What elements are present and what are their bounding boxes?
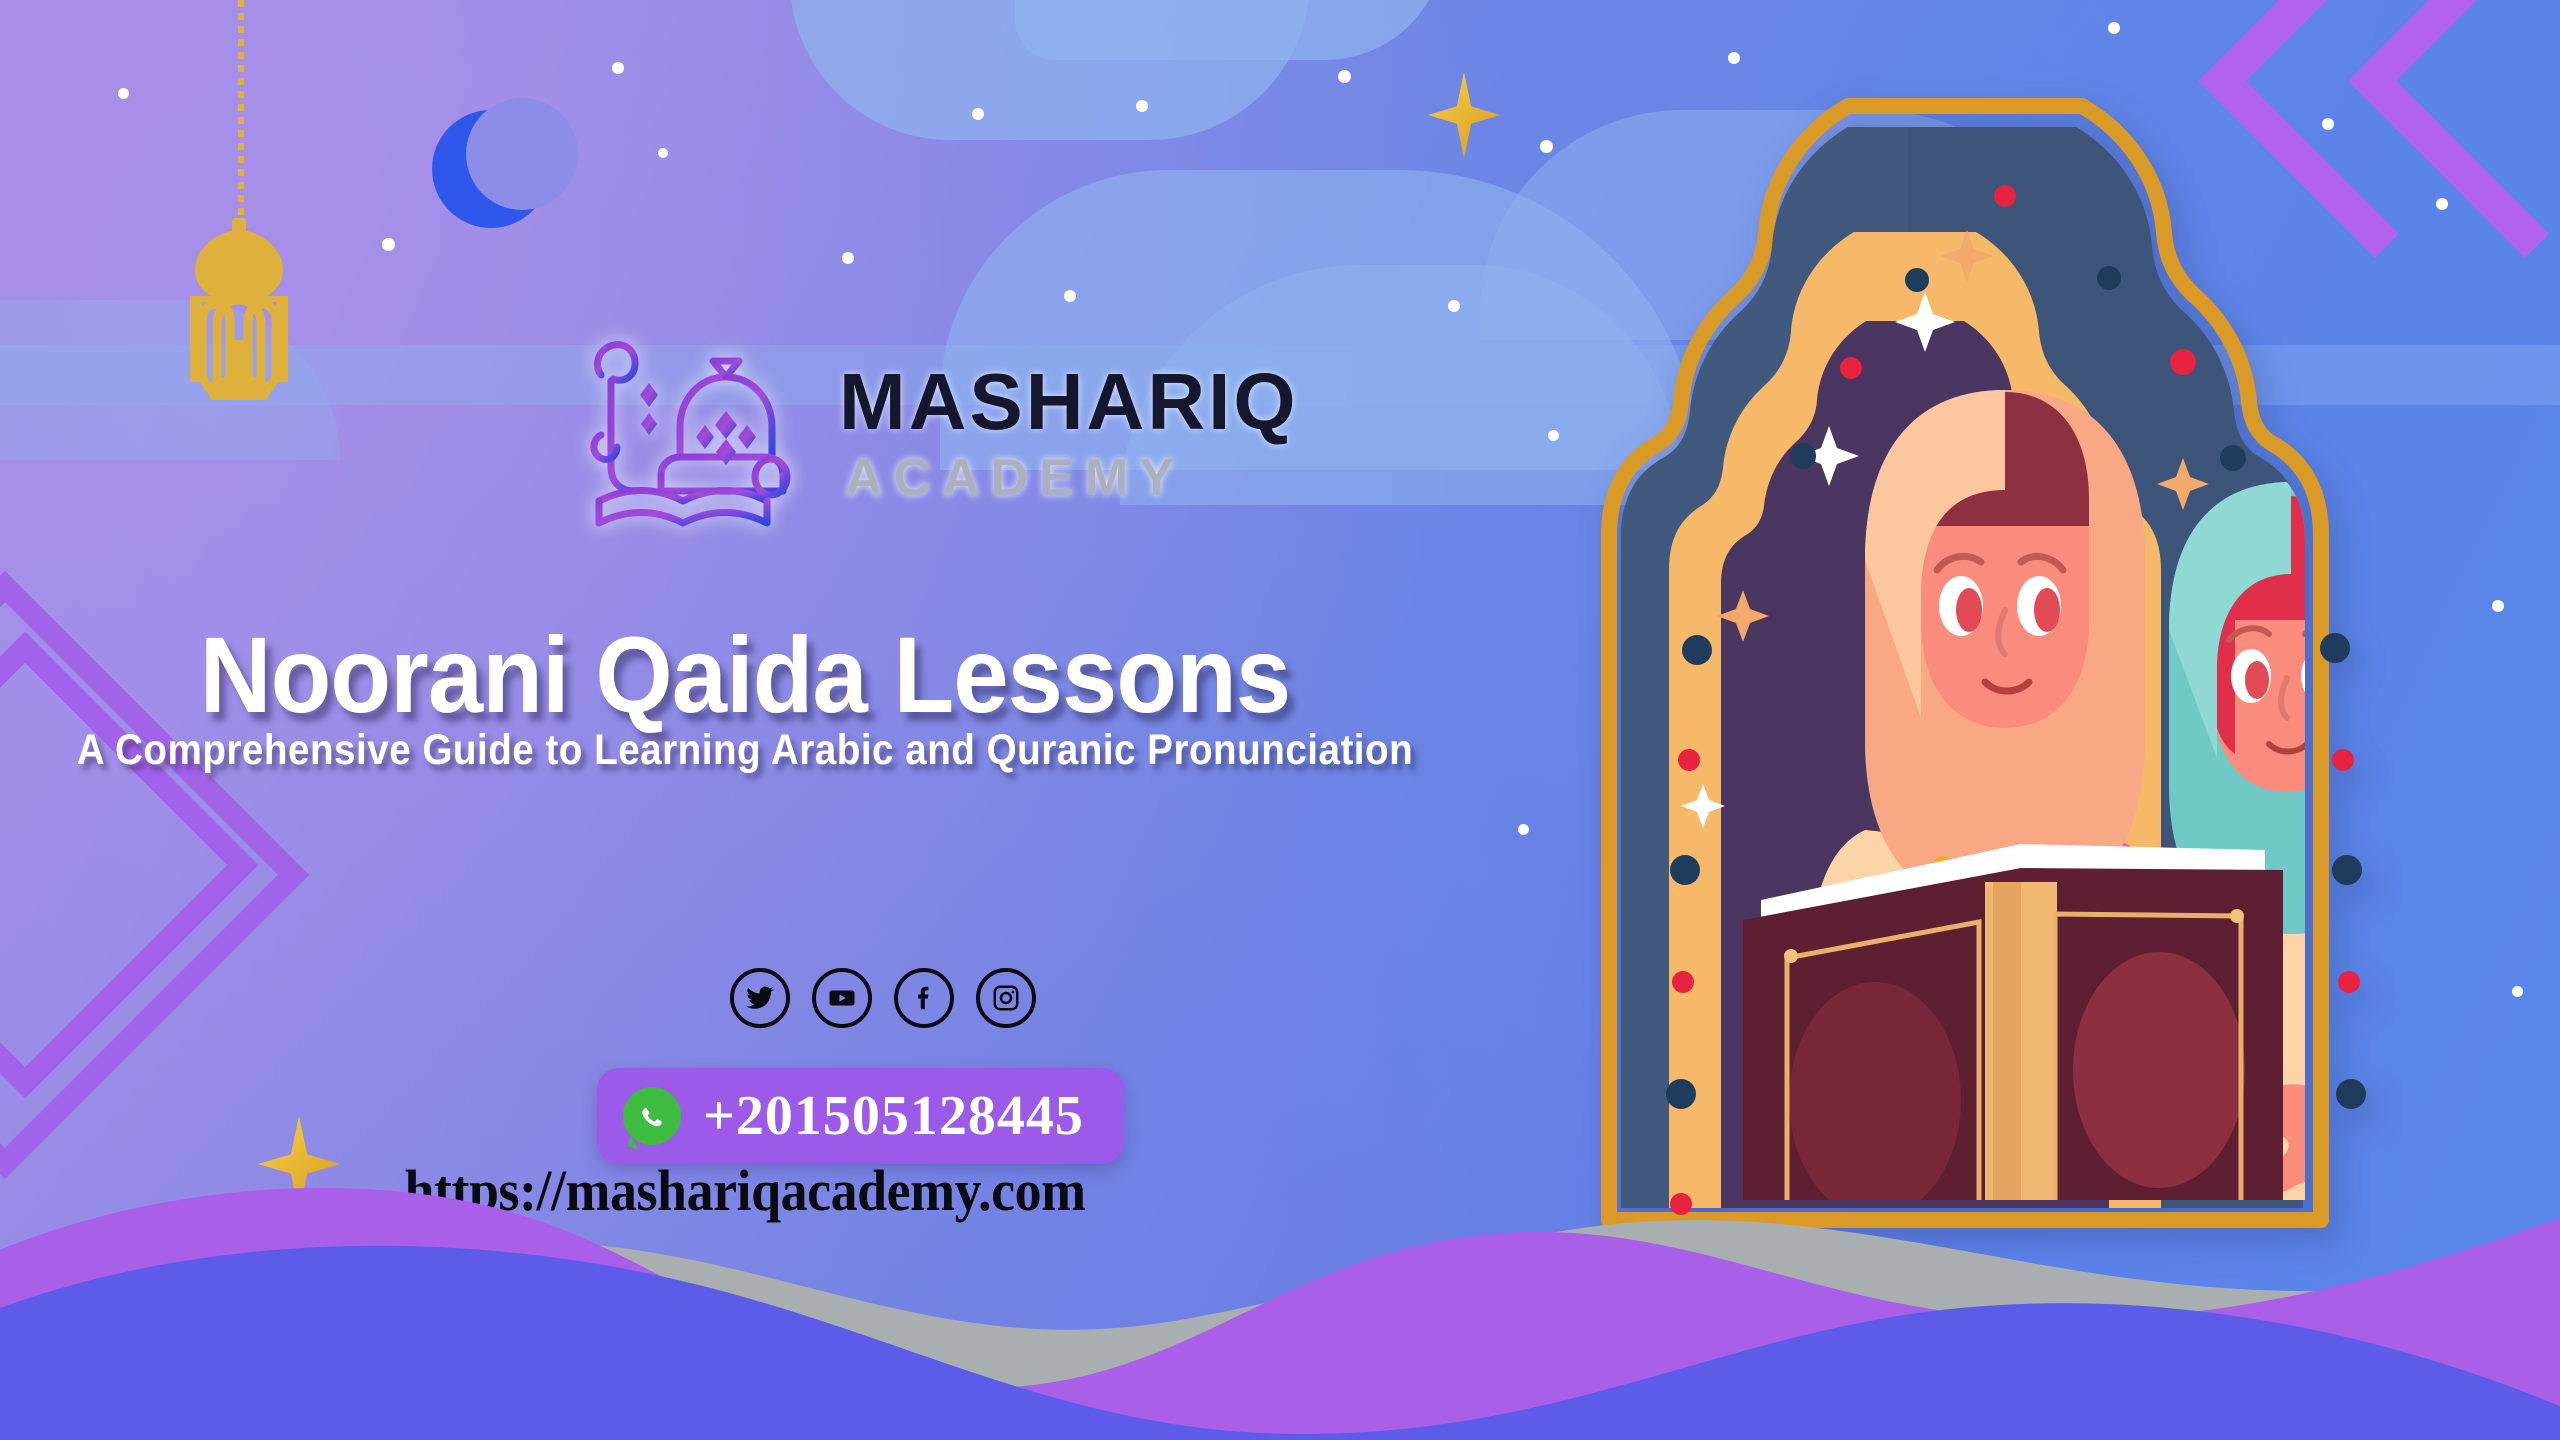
phone-number: +201505128445: [703, 1084, 1084, 1148]
star-dot: [2108, 22, 2120, 34]
twitter-icon[interactable]: [730, 968, 790, 1028]
youtube-icon[interactable]: [812, 968, 872, 1028]
facebook-icon[interactable]: [894, 968, 954, 1028]
social-links: [730, 968, 1036, 1028]
illustration-two-girls-reading-quran: [1565, 70, 2465, 1260]
brand-wordmark: MASHARIQ ACADEMY: [839, 362, 1299, 504]
star-dot: [2512, 986, 2523, 997]
promotional-banner: MASHARIQ ACADEMY Noorani Qaida Lessons A…: [0, 0, 2560, 1440]
brand-name: MASHARIQ: [839, 362, 1299, 442]
instagram-icon[interactable]: [976, 968, 1036, 1028]
page-title: Noorani Qaida Lessons: [60, 612, 1431, 737]
page-subtitle: A Comprehensive Guide to Learning Arabic…: [75, 726, 1416, 775]
brand-subname: ACADEMY: [839, 452, 1299, 504]
star-dot: [2492, 600, 2504, 612]
indigo-wave: [0, 1180, 2560, 1440]
star-dot: [1728, 52, 1740, 64]
mosque-dome-book-arabic-calligraphy-icon: [575, 325, 805, 540]
whatsapp-icon: [623, 1087, 681, 1145]
brand-logo[interactable]: MASHARIQ ACADEMY: [575, 325, 1299, 540]
